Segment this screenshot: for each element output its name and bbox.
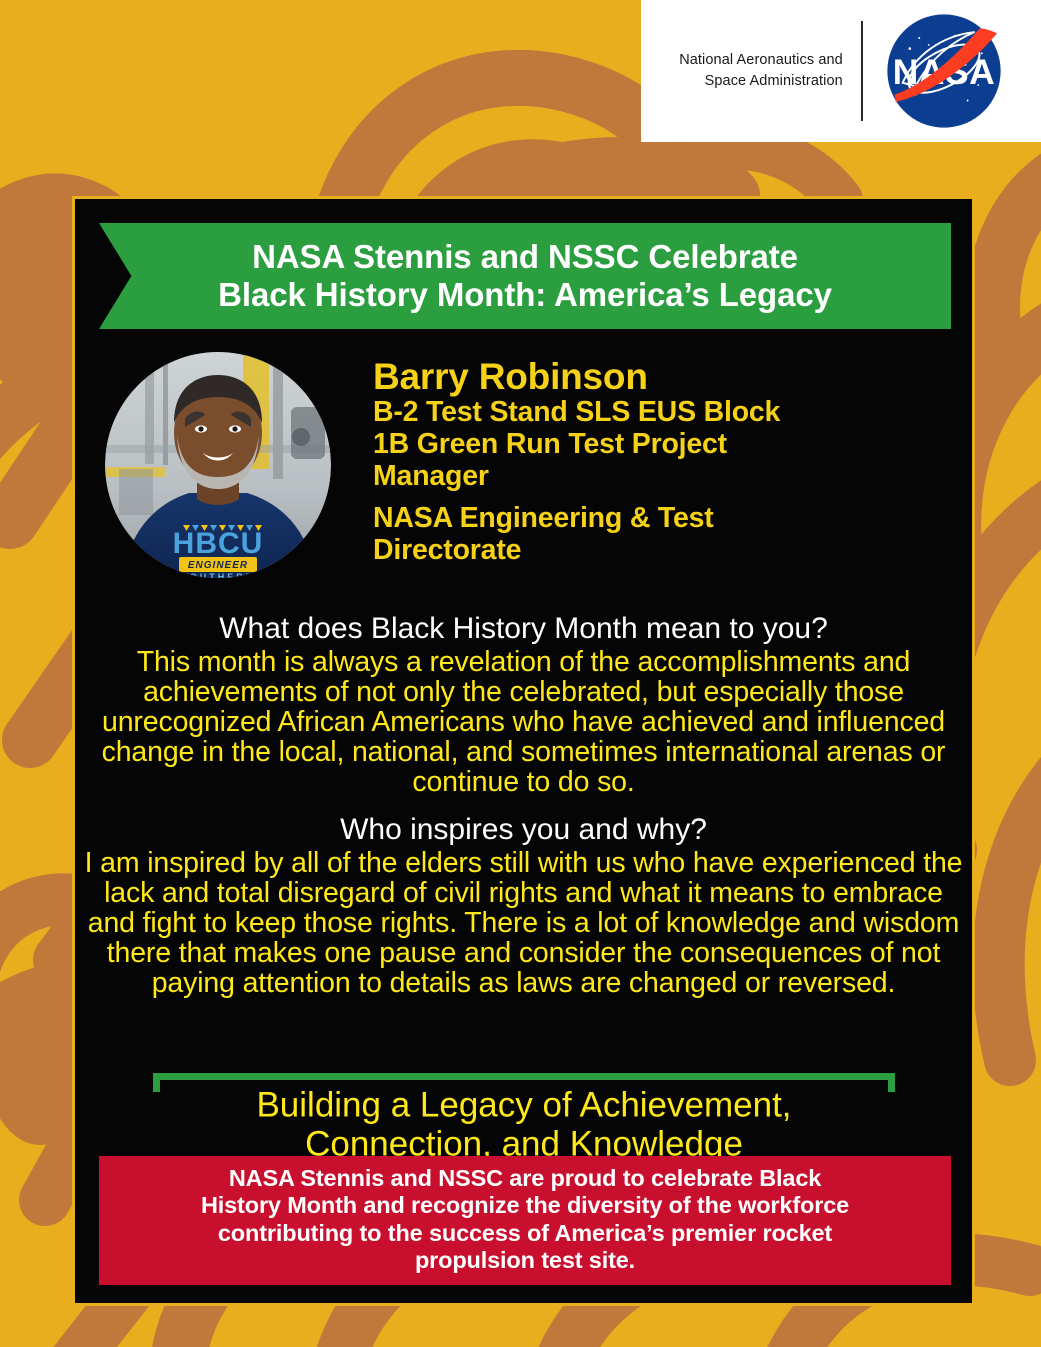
qa-question: Who inspires you and why? (83, 812, 964, 847)
person-role-line-3: Manager (373, 461, 780, 493)
footer-banner: NASA Stennis and NSSC are proud to celeb… (99, 1156, 951, 1285)
svg-text:HBCU: HBCU (173, 527, 264, 560)
questions-answers-section: What does Black History Month mean to yo… (83, 611, 964, 999)
bracket-top-bar (153, 1073, 895, 1080)
tagline-text: Building a Legacy of Achievement, Connec… (153, 1087, 895, 1164)
person-details: Barry Robinson B-2 Test Stand SLS EUS Bl… (373, 349, 780, 566)
svg-text:ENGINEER: ENGINEER (188, 560, 248, 571)
nasa-agency-line-2: Space Administration (679, 71, 843, 92)
profile-section: HBCU ENGINEER SOUTHERN Barry Robinson B-… (75, 349, 972, 581)
title-banner: NASA Stennis and NSSC Celebrate Black Hi… (99, 223, 951, 329)
person-name: Barry Robinson (373, 357, 780, 397)
qa-block: Who inspires you and why? I am inspired … (83, 812, 964, 999)
poster-root: National Aeronautics and Space Administr… (0, 0, 1041, 1347)
nasa-agency-line-1: National Aeronautics and (679, 50, 843, 71)
person-org-line-1: NASA Engineering & Test (373, 503, 780, 535)
portrait-photo: HBCU ENGINEER SOUTHERN (105, 349, 331, 581)
nasa-agency-name: National Aeronautics and Space Administr… (679, 50, 861, 92)
footer-line-3: contributing to the success of America’s… (117, 1220, 933, 1247)
person-role: B-2 Test Stand SLS EUS Block 1B Green Ru… (373, 397, 780, 493)
qa-answer: I am inspired by all of the elders still… (83, 849, 964, 999)
svg-text:SOUTHERN: SOUTHERN (181, 572, 256, 581)
footer-line-2: History Month and recognize the diversit… (117, 1192, 933, 1219)
title-banner-text: NASA Stennis and NSSC Celebrate Black Hi… (99, 238, 951, 313)
footer-line-4: propulsion test site. (117, 1247, 933, 1274)
person-role-line-2: 1B Green Run Test Project (373, 429, 780, 461)
qa-answer: This month is always a revelation of the… (83, 648, 964, 798)
banner-line-1: NASA Stennis and NSSC Celebrate (99, 238, 951, 276)
person-organization: NASA Engineering & Test Directorate (373, 503, 780, 567)
nasa-meatball-icon: NASA (863, 12, 1003, 130)
footer-line-1: NASA Stennis and NSSC are proud to celeb… (117, 1165, 933, 1192)
main-content-panel: NASA Stennis and NSSC Celebrate Black Hi… (72, 196, 975, 1306)
tagline-line-1: Building a Legacy of Achievement, (169, 1087, 879, 1126)
qa-question: What does Black History Month mean to yo… (83, 611, 964, 646)
person-role-line-1: B-2 Test Stand SLS EUS Block (373, 397, 780, 429)
qa-block: What does Black History Month mean to yo… (83, 611, 964, 798)
nasa-header-box: National Aeronautics and Space Administr… (641, 0, 1041, 142)
person-org-line-2: Directorate (373, 535, 780, 567)
banner-line-2: Black History Month: America’s Legacy (99, 276, 951, 314)
